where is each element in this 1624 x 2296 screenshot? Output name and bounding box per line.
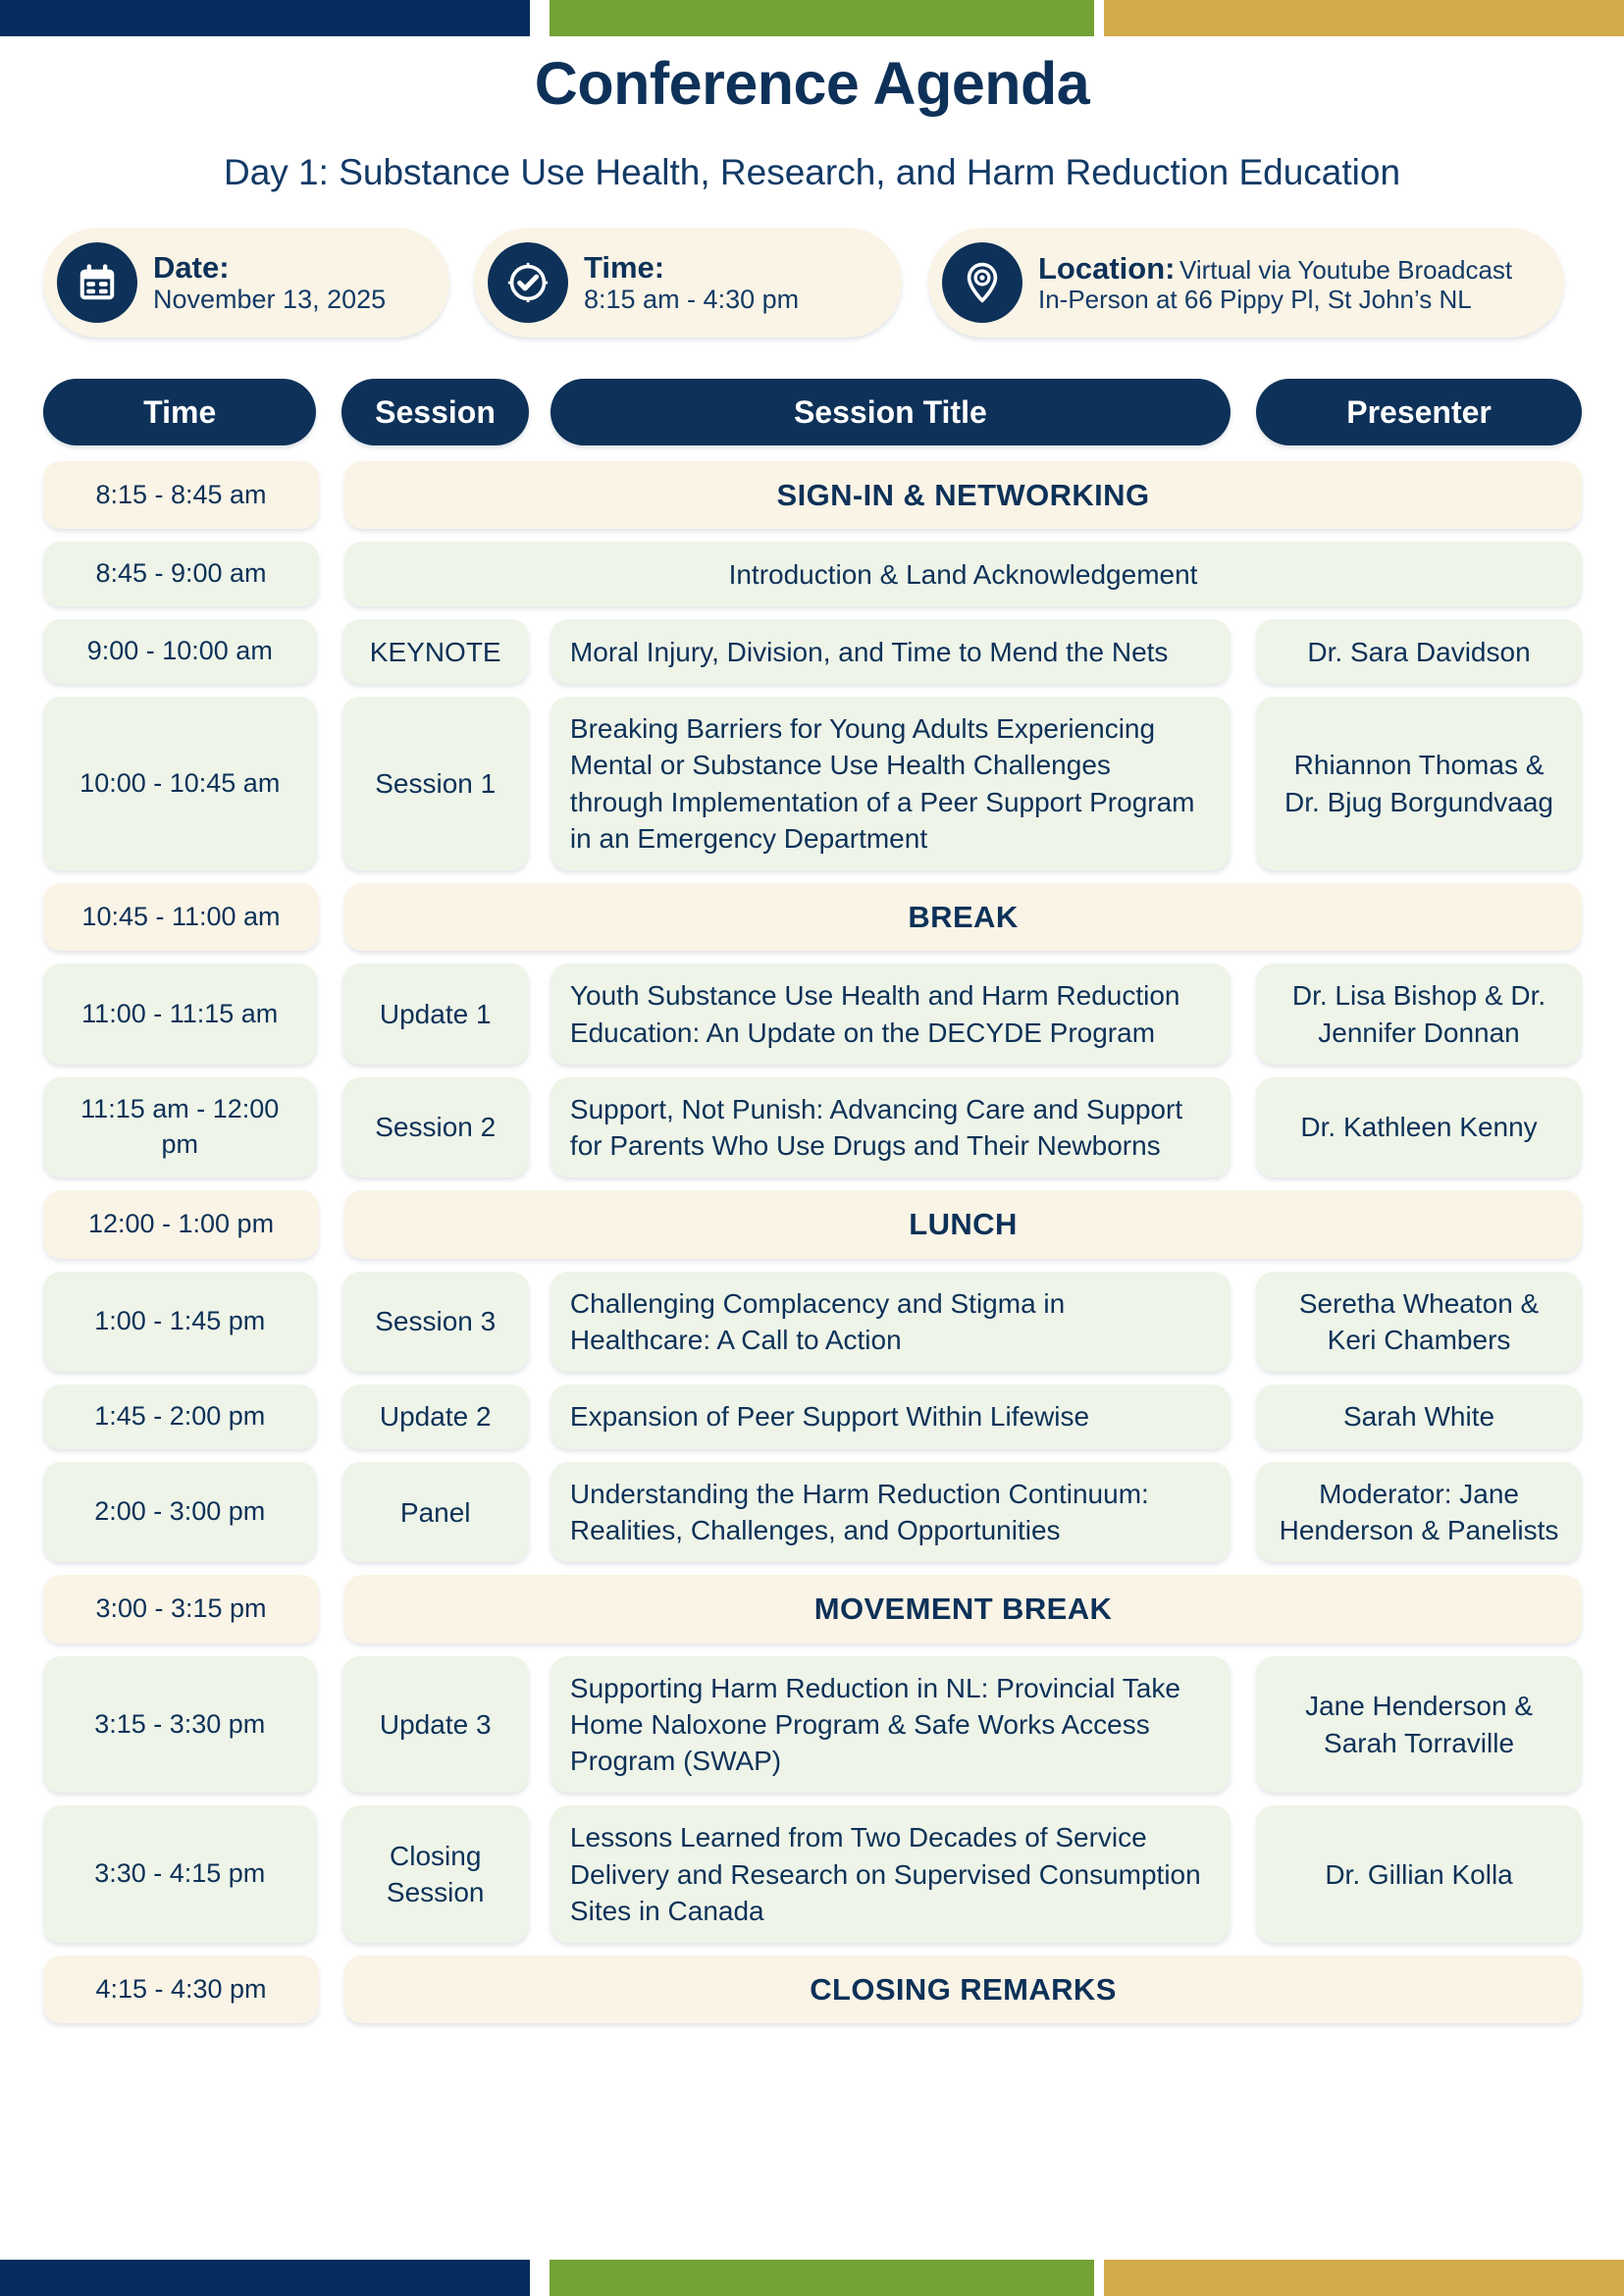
cell-presenter: Rhiannon Thomas & Dr. Bjug Borgundvaag: [1256, 697, 1582, 870]
page-subtitle: Day 1: Substance Use Health, Research, a…: [0, 152, 1624, 193]
agenda-page: Conference Agenda Day 1: Substance Use H…: [0, 0, 1624, 2296]
cell-presenter: Moderator: Jane Henderson & Panelists: [1256, 1462, 1582, 1562]
table-row: 3:30 - 4:15 pmClosing SessionLessons Lea…: [43, 1805, 1582, 1943]
clock-icon: [488, 242, 568, 323]
cell-presenter: Sarah White: [1256, 1384, 1582, 1449]
cell-time: 2:00 - 3:00 pm: [43, 1462, 317, 1562]
cell-time: 8:45 - 9:00 am: [43, 542, 319, 606]
column-header-presenter: Presenter: [1256, 379, 1582, 445]
table-row: 11:00 - 11:15 amUpdate 1Youth Substance …: [43, 964, 1582, 1064]
location-badge-label: Location:: [1038, 251, 1176, 286]
time-badge: Time: 8:15 am - 4:30 pm: [474, 228, 902, 338]
column-header-time: Time: [43, 379, 316, 445]
cell-time: 3:00 - 3:15 pm: [43, 1575, 319, 1643]
location-badge-line-2: In-Person at 66 Pippy Pl, St John’s NL: [1038, 285, 1472, 314]
location-badge: Location: Virtual via Youtube Broadcast …: [928, 228, 1564, 338]
color-bar-gap-1-bottom: [530, 2260, 550, 2296]
cell-session-title: Expansion of Peer Support Within Lifewis…: [550, 1384, 1231, 1449]
cell-session: Update 1: [342, 964, 529, 1064]
table-row: 9:00 - 10:00 amKEYNOTEMoral Injury, Divi…: [43, 619, 1582, 684]
top-color-bar: [0, 0, 1624, 36]
cell-time: 9:00 - 10:00 am: [43, 619, 317, 684]
color-bar-navy: [0, 0, 530, 36]
table-row: 1:45 - 2:00 pmUpdate 2Expansion of Peer …: [43, 1384, 1582, 1449]
table-row: 12:00 - 1:00 pmLUNCH: [43, 1190, 1582, 1258]
time-badge-value: 8:15 am - 4:30 pm: [584, 285, 799, 314]
color-bar-green: [550, 0, 1094, 36]
bottom-color-bar: [0, 2260, 1624, 2296]
date-badge-text: Date: November 13, 2025: [153, 250, 424, 315]
cell-session: Panel: [342, 1462, 529, 1562]
cell-time: 4:15 - 4:30 pm: [43, 1956, 319, 2023]
table-row: 3:00 - 3:15 pmMOVEMENT BREAK: [43, 1575, 1582, 1643]
cell-session-title: Youth Substance Use Health and Harm Redu…: [550, 964, 1231, 1064]
table-row: 10:45 - 11:00 amBREAK: [43, 883, 1582, 951]
location-badge-line-1: Virtual via Youtube Broadcast: [1179, 255, 1512, 285]
cell-session-title: Breaking Barriers for Young Adults Exper…: [550, 697, 1231, 870]
color-bar-gold-bottom: [1104, 2260, 1624, 2296]
cell-session-title: Understanding the Harm Reduction Continu…: [550, 1462, 1231, 1562]
table-row: 2:00 - 3:00 pmPanelUnderstanding the Har…: [43, 1462, 1582, 1562]
column-header-session: Session: [341, 379, 528, 445]
page-title: Conference Agenda: [0, 49, 1624, 118]
color-bar-gap-2: [1094, 0, 1104, 36]
date-badge: Date: November 13, 2025: [43, 228, 449, 338]
cell-presenter: Jane Henderson & Sarah Torraville: [1256, 1656, 1582, 1794]
date-badge-label: Date:: [153, 250, 230, 285]
table-body: 8:15 - 8:45 amSIGN-IN & NETWORKING8:45 -…: [43, 461, 1582, 2023]
table-row: 4:15 - 4:30 pmCLOSING REMARKS: [43, 1956, 1582, 2023]
cell-banner: LUNCH: [344, 1190, 1582, 1258]
cell-session: Update 3: [342, 1656, 529, 1794]
cell-presenter: Dr. Gillian Kolla: [1256, 1805, 1582, 1943]
cell-time: 1:45 - 2:00 pm: [43, 1384, 317, 1449]
cell-banner: CLOSING REMARKS: [344, 1956, 1582, 2023]
cell-session: Session 3: [342, 1272, 529, 1372]
cell-session-title: Challenging Complacency and Stigma in He…: [550, 1272, 1231, 1372]
cell-time: 12:00 - 1:00 pm: [43, 1190, 319, 1258]
calendar-icon: [57, 242, 137, 323]
table-row: 1:00 - 1:45 pmSession 3Challenging Compl…: [43, 1272, 1582, 1372]
color-bar-navy-bottom: [0, 2260, 530, 2296]
table-row: 8:15 - 8:45 amSIGN-IN & NETWORKING: [43, 461, 1582, 529]
cell-time: 1:00 - 1:45 pm: [43, 1272, 317, 1372]
info-badges: Date: November 13, 2025 Time: 8:15 am - …: [43, 228, 1584, 353]
table-header-row: Time Session Session Title Presenter: [43, 379, 1582, 445]
cell-time: 11:00 - 11:15 am: [43, 964, 317, 1064]
cell-time: 8:15 - 8:45 am: [43, 461, 319, 529]
cell-session: Session 2: [342, 1077, 529, 1177]
color-bar-gap-2-bottom: [1094, 2260, 1104, 2296]
cell-session: Update 2: [342, 1384, 529, 1449]
cell-time: 3:30 - 4:15 pm: [43, 1805, 317, 1943]
cell-banner: BREAK: [344, 883, 1582, 951]
color-bar-gap-1: [530, 0, 550, 36]
location-pin-icon: [942, 242, 1022, 323]
cell-presenter: Dr. Sara Davidson: [1256, 619, 1582, 684]
color-bar-gold: [1104, 0, 1624, 36]
cell-session: Session 1: [342, 697, 529, 870]
time-badge-label: Time:: [584, 250, 664, 285]
cell-time: 11:15 am - 12:00 pm: [43, 1077, 317, 1177]
cell-session-title: Lessons Learned from Two Decades of Serv…: [550, 1805, 1231, 1943]
cell-session: Closing Session: [342, 1805, 529, 1943]
date-badge-value: November 13, 2025: [153, 285, 386, 314]
cell-session-title: Supporting Harm Reduction in NL: Provinc…: [550, 1656, 1231, 1794]
cell-banner: MOVEMENT BREAK: [344, 1575, 1582, 1643]
cell-session-title: Moral Injury, Division, and Time to Mend…: [550, 619, 1231, 684]
cell-presenter: Dr. Lisa Bishop & Dr. Jennifer Donnan: [1256, 964, 1582, 1064]
time-badge-text: Time: 8:15 am - 4:30 pm: [584, 250, 876, 315]
cell-session: KEYNOTE: [342, 619, 529, 684]
table-row: 3:15 - 3:30 pmUpdate 3Supporting Harm Re…: [43, 1656, 1582, 1794]
column-header-title: Session Title: [550, 379, 1231, 445]
table-row: 8:45 - 9:00 amIntroduction & Land Acknow…: [43, 542, 1582, 606]
table-row: 10:00 - 10:45 amSession 1Breaking Barrie…: [43, 697, 1582, 870]
color-bar-green-bottom: [550, 2260, 1094, 2296]
cell-session-title: Support, Not Punish: Advancing Care and …: [550, 1077, 1231, 1177]
location-badge-text: Location: Virtual via Youtube Broadcast …: [1038, 251, 1539, 315]
cell-time: 10:45 - 11:00 am: [43, 883, 319, 951]
cell-presenter: Dr. Kathleen Kenny: [1256, 1077, 1582, 1177]
cell-banner: Introduction & Land Acknowledgement: [344, 542, 1582, 606]
cell-time: 10:00 - 10:45 am: [43, 697, 317, 870]
table-row: 11:15 am - 12:00 pmSession 2Support, Not…: [43, 1077, 1582, 1177]
agenda-table: Time Session Session Title Presenter 8:1…: [43, 379, 1582, 2036]
cell-presenter: Seretha Wheaton & Keri Chambers: [1256, 1272, 1582, 1372]
cell-time: 3:15 - 3:30 pm: [43, 1656, 317, 1794]
cell-banner: SIGN-IN & NETWORKING: [344, 461, 1582, 529]
